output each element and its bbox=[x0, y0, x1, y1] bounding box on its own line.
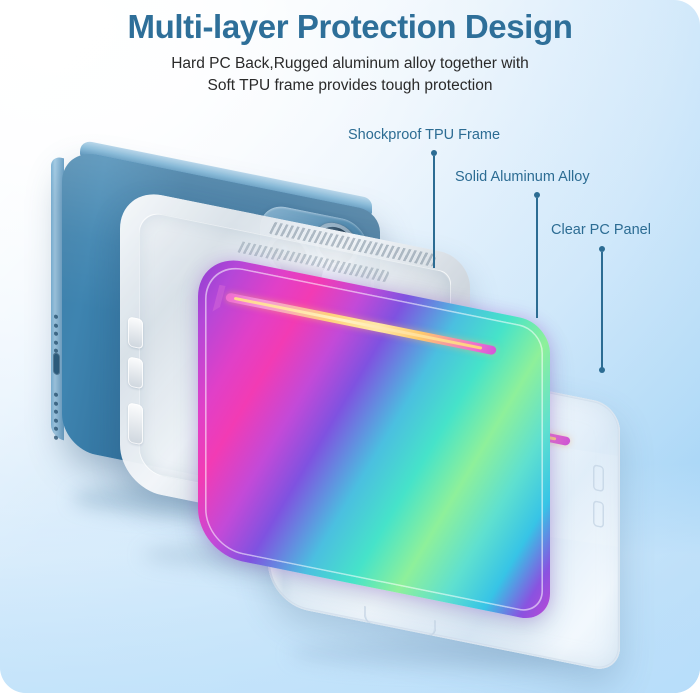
tpu-volume-button-down bbox=[128, 356, 143, 389]
page-title: Multi-layer Protection Design bbox=[0, 8, 700, 47]
tpu-power-button bbox=[128, 402, 143, 445]
subtitle-line-2: Soft TPU frame provides tough protection bbox=[90, 75, 610, 97]
callout-label-aluminum-alloy: Solid Aluminum Alloy bbox=[455, 169, 590, 185]
header: Multi-layer Protection Design Hard PC Ba… bbox=[0, 0, 700, 97]
callout-label-pc-panel: Clear PC Panel bbox=[551, 222, 651, 238]
charging-port bbox=[53, 352, 60, 375]
subtitle-line-1: Hard PC Back,Rugged aluminum alloy toget… bbox=[90, 53, 610, 75]
page-subtitle: Hard PC Back,Rugged aluminum alloy toget… bbox=[90, 53, 610, 97]
callout-label-tpu-frame: Shockproof TPU Frame bbox=[348, 127, 500, 143]
product-feature-image: Multi-layer Protection Design Hard PC Ba… bbox=[0, 0, 700, 693]
tpu-volume-button-up bbox=[128, 316, 143, 349]
aluminum-bumper-opening bbox=[205, 261, 543, 615]
speaker-grille-lower bbox=[54, 392, 63, 440]
